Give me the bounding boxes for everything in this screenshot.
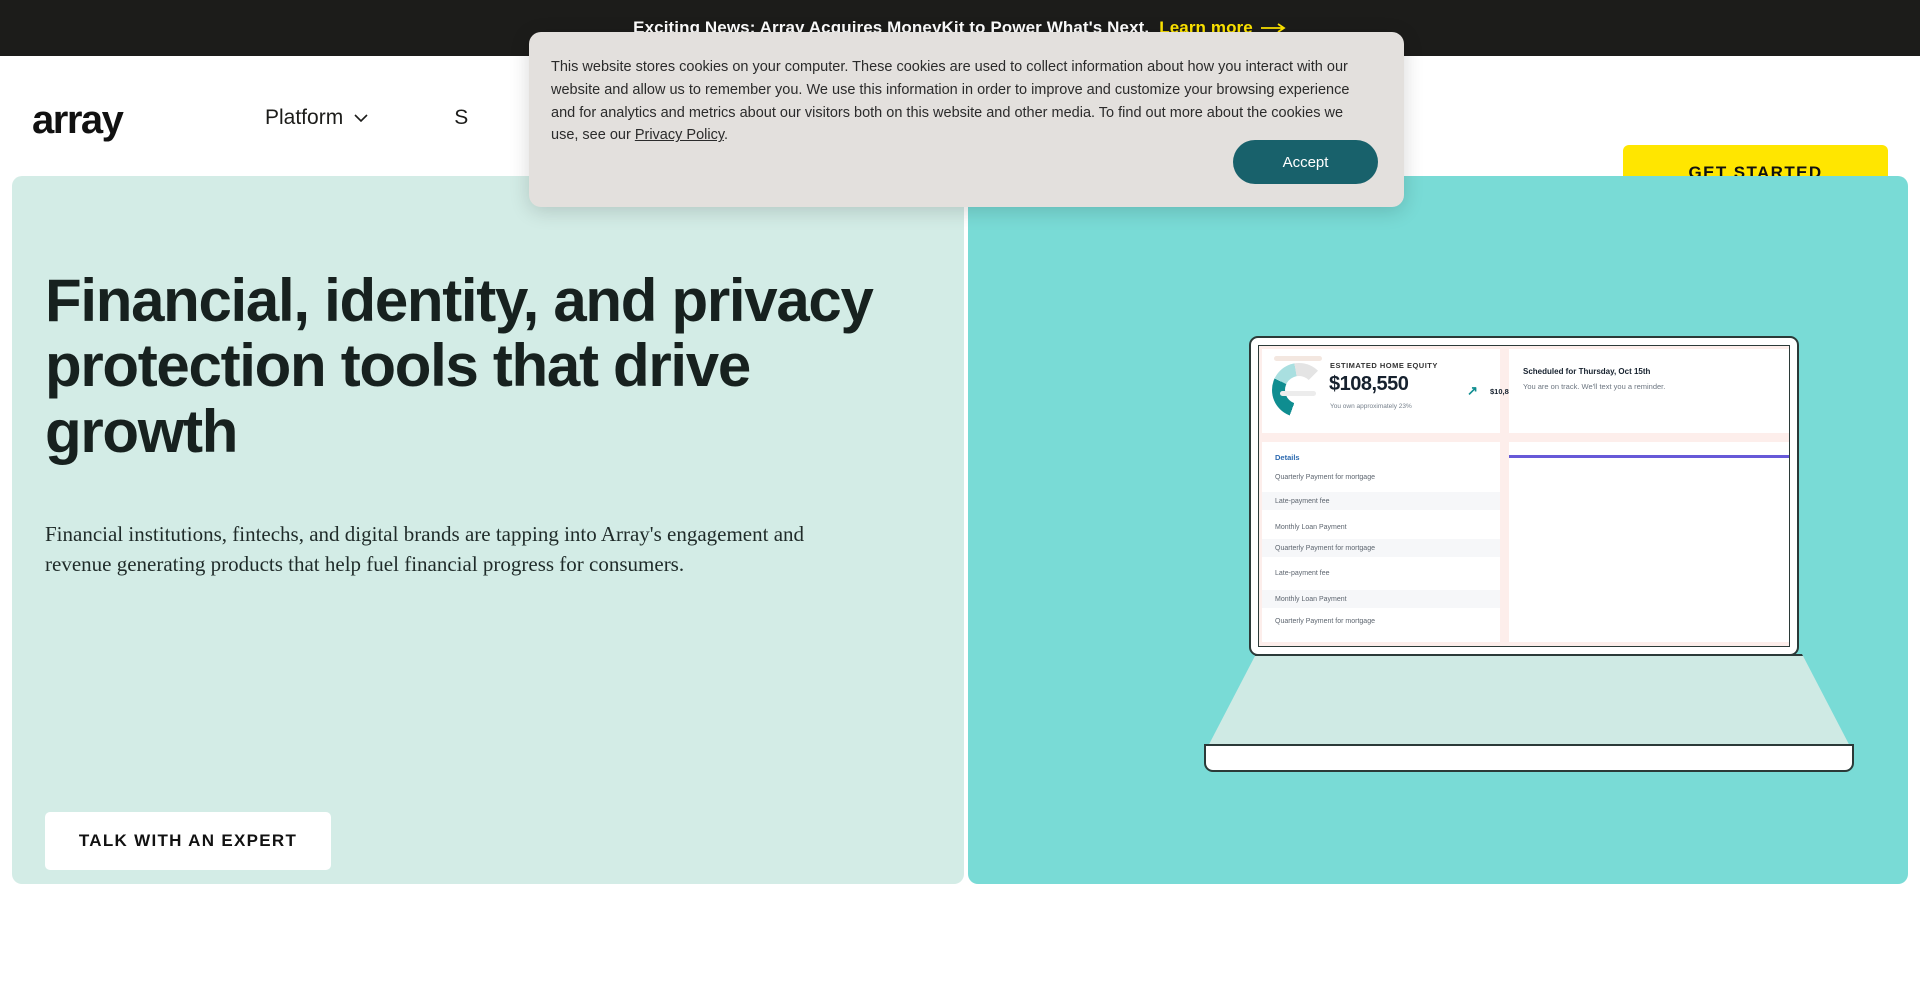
donut-bar-bottom — [1280, 391, 1316, 396]
scheduled-title: Scheduled for Thursday, Oct 15th — [1523, 367, 1650, 376]
equity-eyebrow: ESTIMATED HOME EQUITY — [1330, 361, 1438, 370]
privacy-policy-link[interactable]: Privacy Policy — [635, 127, 724, 143]
laptop-screen: ESTIMATED HOME EQUITY $108,550 You own a… — [1258, 345, 1790, 647]
nav-item-solutions-label: S — [454, 106, 468, 130]
nav-item-platform-label: Platform — [265, 106, 343, 130]
details-row: Quarterly Payment for mortgage — [1262, 612, 1500, 630]
hero-left-panel: Financial, identity, and privacy protect… — [12, 176, 964, 884]
cookie-body-part2: . — [724, 127, 728, 143]
hero-right-panel: ESTIMATED HOME EQUITY $108,550 You own a… — [968, 176, 1908, 884]
donut-chart-icon — [1272, 363, 1326, 417]
equity-amount: $108,550 — [1329, 373, 1408, 396]
arrow-up-right-icon: ↗ — [1467, 383, 1478, 399]
home-equity-card: ESTIMATED HOME EQUITY $108,550 You own a… — [1262, 349, 1500, 433]
cookie-banner-text: This website stores cookies on your comp… — [551, 56, 1366, 147]
details-row: Late-payment fee — [1262, 492, 1500, 510]
page-root: Exciting News: Array Acquires MoneyKit t… — [0, 0, 1920, 993]
nav-links: Platform S — [265, 106, 468, 130]
details-row: Monthly Loan Payment — [1262, 590, 1500, 608]
nav-item-solutions[interactable]: S — [454, 106, 468, 130]
laptop-base-edge — [1204, 744, 1854, 772]
details-row: Late-payment fee — [1262, 564, 1500, 582]
laptop-lid: ESTIMATED HOME EQUITY $108,550 You own a… — [1249, 336, 1799, 656]
laptop-mockup: ESTIMATED HOME EQUITY $108,550 You own a… — [1204, 336, 1854, 884]
details-header: Details — [1275, 453, 1300, 462]
hero-section: Financial, identity, and privacy protect… — [12, 176, 1908, 884]
array-logo[interactable]: array — [32, 100, 122, 140]
equity-ownership-note: You own approximately 23% — [1330, 403, 1412, 410]
details-row: Monthly Loan Payment — [1262, 518, 1500, 536]
donut-bar-top — [1274, 356, 1322, 361]
cookie-consent-banner: This website stores cookies on your comp… — [529, 32, 1404, 207]
schedule-detail-panel — [1509, 442, 1790, 642]
cookie-accept-button[interactable]: Accept — [1233, 140, 1378, 184]
laptop-base — [1204, 654, 1854, 754]
hero-subheading: Financial institutions, fintechs, and di… — [45, 519, 805, 580]
nav-item-platform[interactable]: Platform — [265, 106, 368, 130]
chevron-down-icon — [354, 114, 368, 122]
hero-heading: Financial, identity, and privacy protect… — [45, 268, 875, 464]
scheduled-card: Scheduled for Thursday, Oct 15th You are… — [1509, 349, 1790, 433]
scheduled-subtitle: You are on track. We'll text you a remin… — [1523, 382, 1665, 391]
talk-with-an-expert-button[interactable]: TALK WITH AN EXPERT — [45, 812, 331, 870]
accent-divider — [1509, 455, 1790, 458]
details-row: Quarterly Payment for mortgage — [1262, 468, 1500, 486]
details-row: Quarterly Payment for mortgage — [1262, 539, 1500, 557]
details-card: Details Quarterly Payment for mortgage L… — [1262, 442, 1500, 642]
